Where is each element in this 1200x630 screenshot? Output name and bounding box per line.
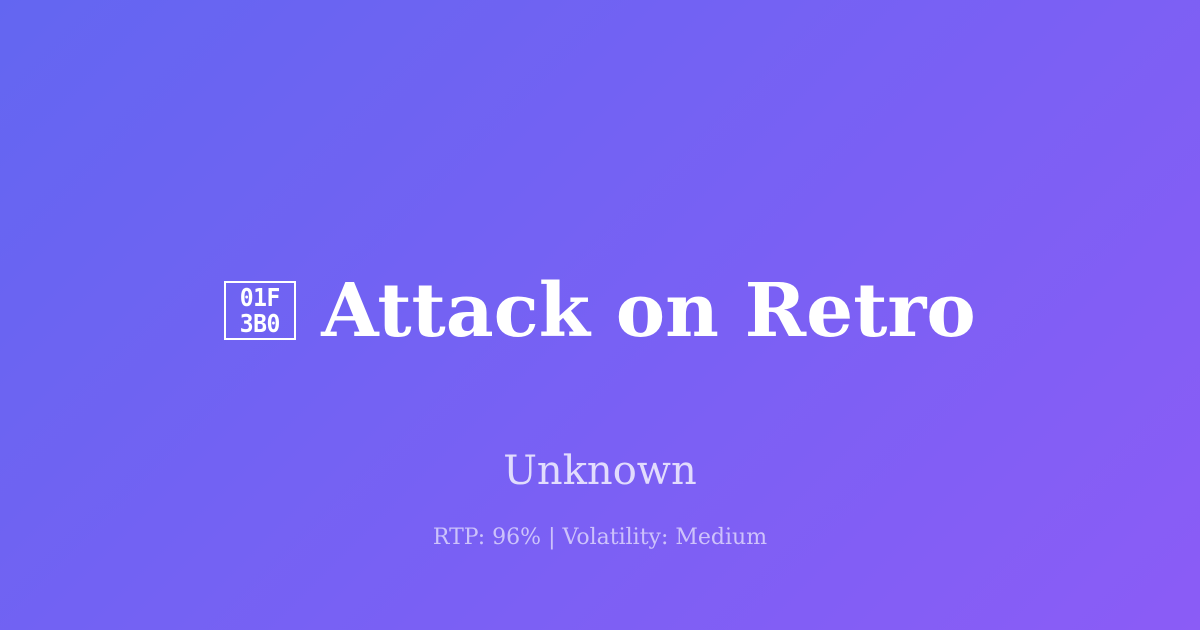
title-row: 01F 3B0 Attack on Retro <box>224 224 976 397</box>
page-title: Attack on Retro <box>321 274 976 348</box>
game-stats-footer: RTP: 96% | Volatility: Medium <box>0 527 1200 549</box>
tofu-codepoint-low: 3B0 <box>240 311 280 337</box>
subtitle: Unknown <box>503 451 697 491</box>
slot-machine-emoji-icon: 01F 3B0 <box>224 281 296 340</box>
hero-block: 01F 3B0 Attack on Retro Unknown <box>0 224 1200 491</box>
tofu-codepoint-high: 01F <box>240 285 280 311</box>
og-card: 01F 3B0 Attack on Retro Unknown RTP: 96%… <box>0 0 1200 630</box>
